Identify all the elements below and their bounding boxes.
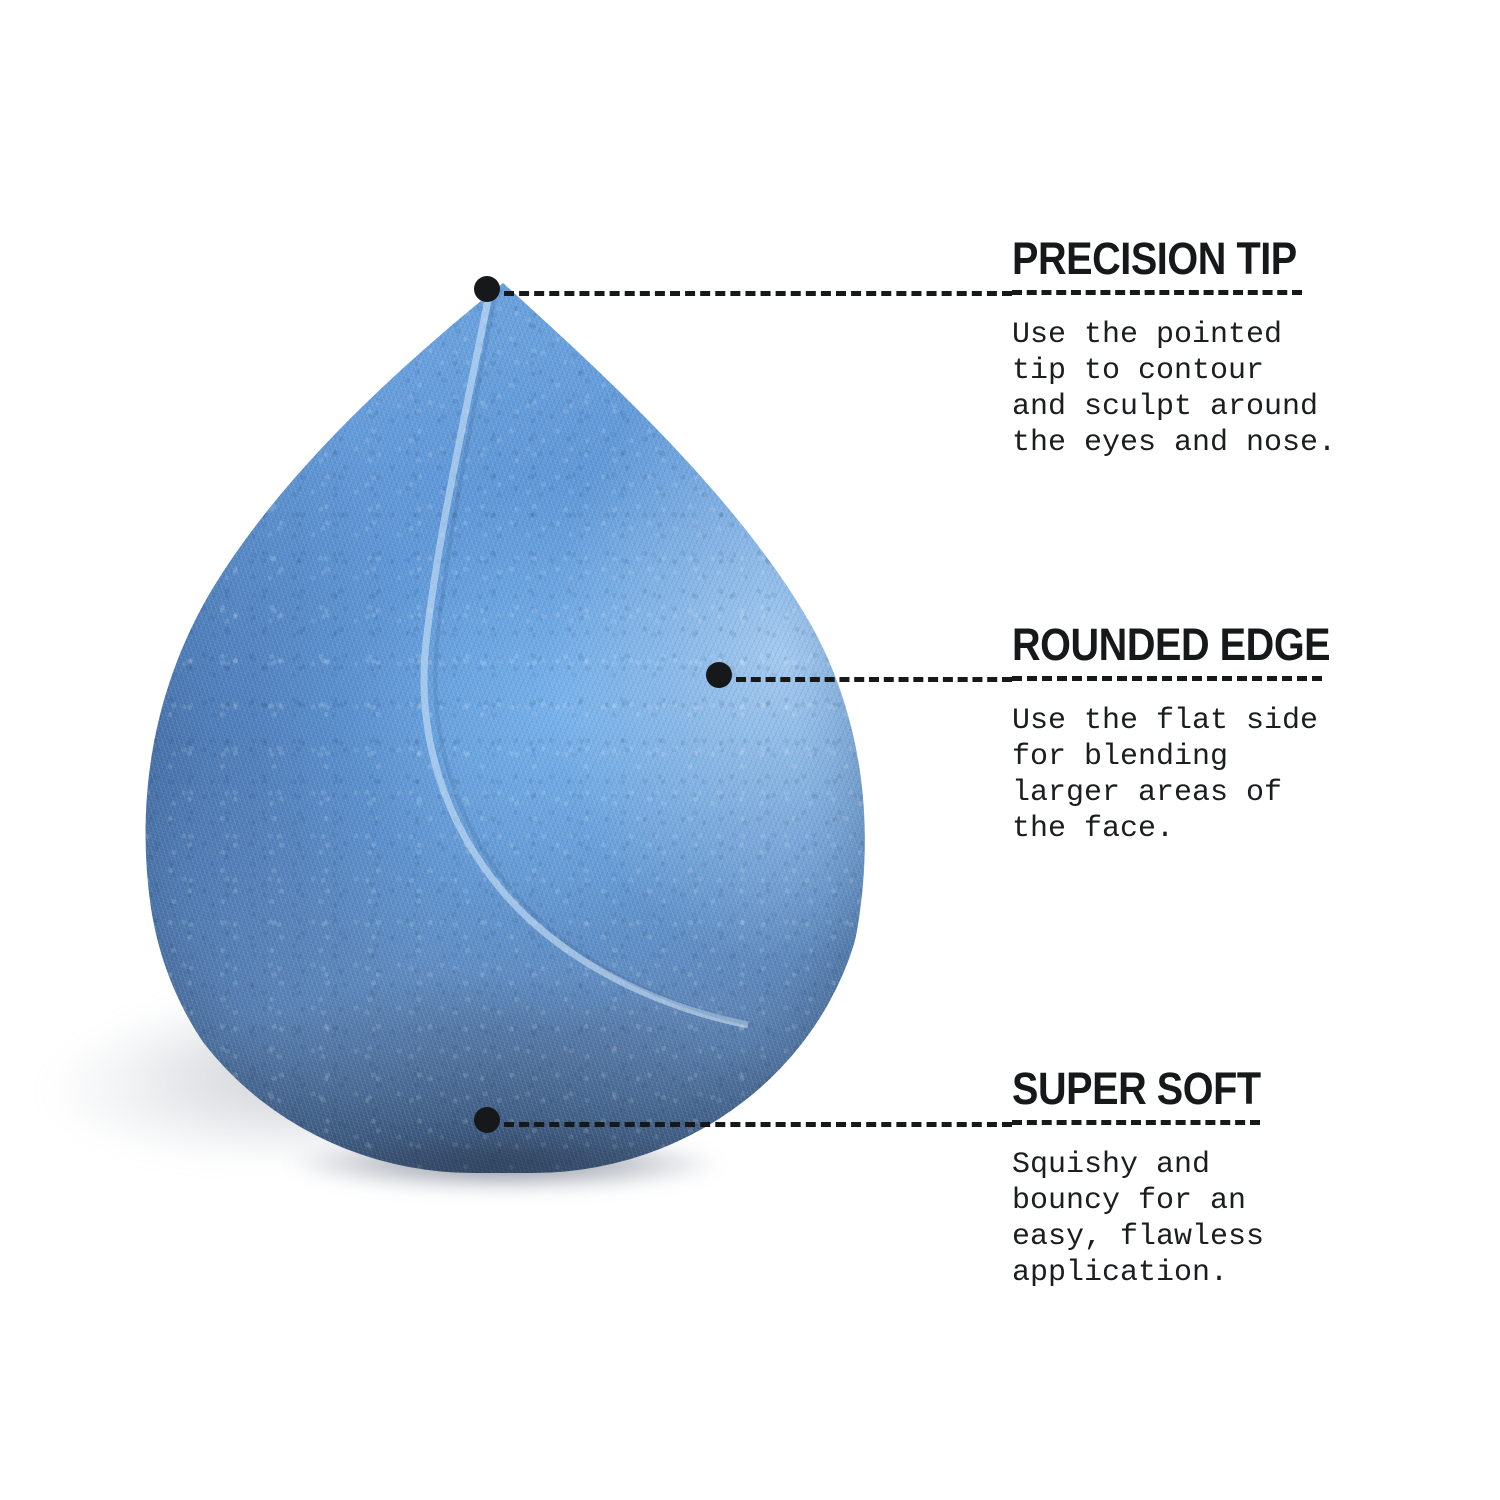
sponge-seam-line [138, 283, 868, 1173]
callout-super-soft: SUPER SOFT Squishy and bouncy for an eas… [1012, 1066, 1412, 1291]
callout-underline-rounded-edge [1012, 676, 1322, 681]
leader-line-rounded-edge [736, 677, 1012, 682]
contact-shadow [225, 1135, 785, 1207]
callout-body-precision-tip: Use the pointed tip to contour and sculp… [1012, 317, 1412, 461]
blender-sponge-body [138, 283, 868, 1173]
sponge-texture-fibers [138, 283, 868, 1173]
callout-title-precision-tip: PRECISION TIP [1012, 236, 1364, 281]
callout-body-rounded-edge: Use the flat side for blending larger ar… [1012, 703, 1412, 847]
callout-precision-tip: PRECISION TIP Use the pointed tip to con… [1012, 236, 1412, 461]
product-feature-infographic: PRECISION TIP Use the pointed tip to con… [0, 0, 1500, 1500]
callout-underline-precision-tip [1012, 290, 1302, 295]
leader-line-precision-tip [504, 291, 1012, 296]
anchor-dot-rounded-edge [706, 662, 732, 688]
sponge-texture-speckle [138, 283, 868, 1173]
callout-body-super-soft: Squishy and bouncy for an easy, flawless… [1012, 1147, 1412, 1291]
callout-title-rounded-edge: ROUNDED EDGE [1012, 622, 1364, 667]
anchor-dot-precision-tip [474, 276, 500, 302]
anchor-dot-super-soft [474, 1107, 500, 1133]
callout-title-super-soft: SUPER SOFT [1012, 1066, 1364, 1111]
callout-underline-super-soft [1012, 1120, 1260, 1125]
callout-rounded-edge: ROUNDED EDGE Use the flat side for blend… [1012, 622, 1412, 847]
leader-line-super-soft [504, 1122, 1012, 1127]
